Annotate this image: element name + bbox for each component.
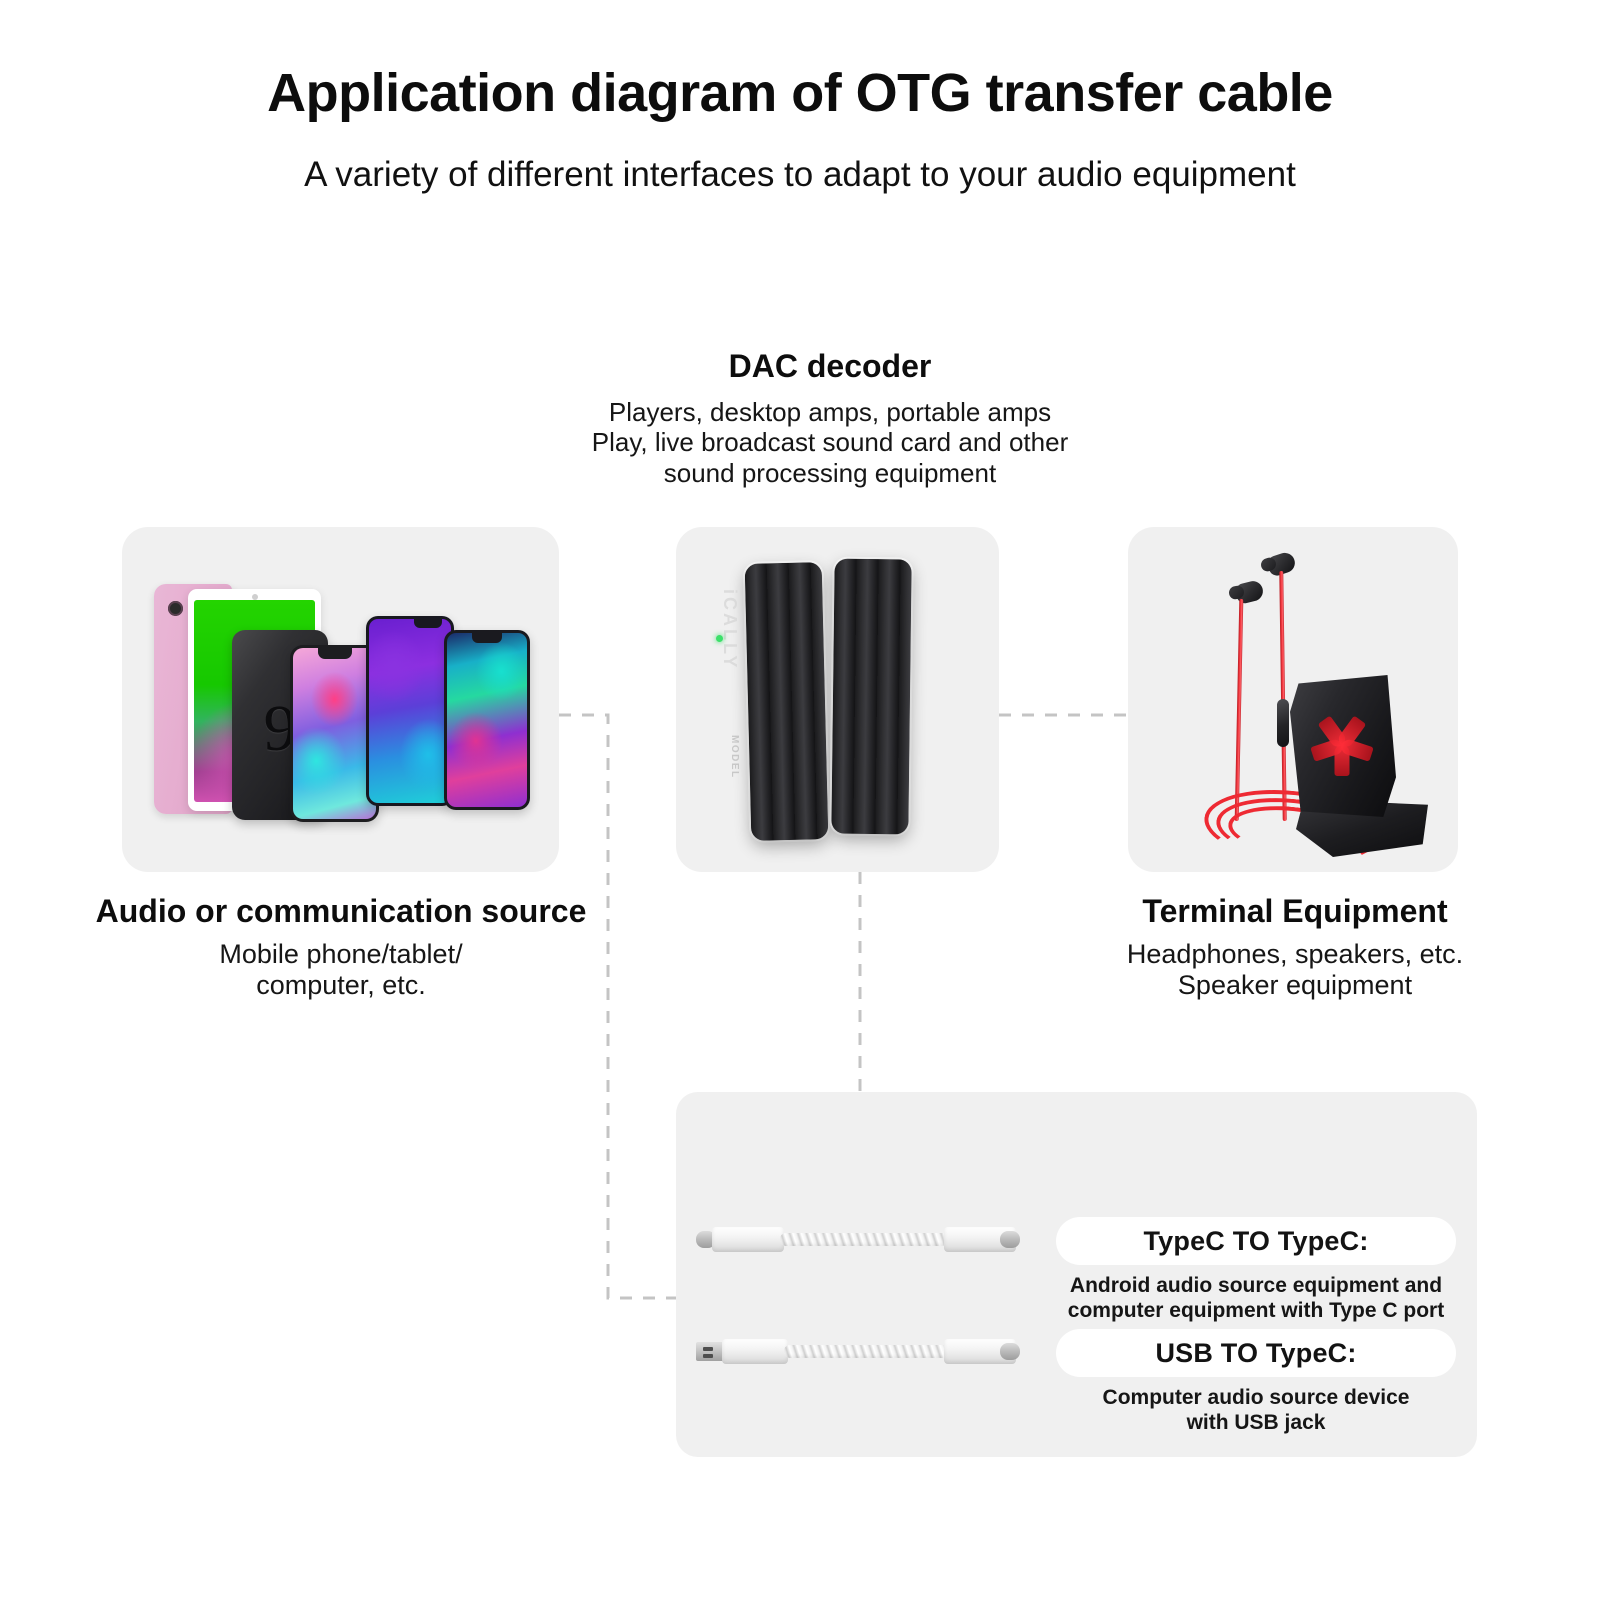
earphone-wire-right: [1279, 571, 1286, 821]
device-illustration-group: 9: [122, 527, 559, 872]
cable-description: Android audio source equipment and compu…: [1056, 1274, 1456, 1324]
status-led-icon: [716, 635, 723, 642]
connector-tip-typec-right: [1000, 1231, 1020, 1248]
cable-type-badge: USB TO TypeC:: [1056, 1329, 1456, 1377]
cable-type-badge: TypeC TO TypeC:: [1056, 1217, 1456, 1265]
audio-source-description: Mobile phone/tablet/ computer, etc.: [95, 939, 587, 1002]
notch-cutout: [472, 633, 502, 643]
cable-illustration-typec: [696, 1222, 1036, 1258]
dac-brand-label: iCALLY: [719, 589, 740, 670]
connector-body-left: [712, 1227, 784, 1252]
audio-source-heading: Audio or communication source: [95, 893, 587, 931]
phone-notch-screen: [293, 648, 376, 819]
panel-cable-options: TypeC TO TypeC: Android audio source equ…: [676, 1092, 1477, 1457]
inline-remote-control: [1277, 699, 1289, 747]
connector-body-left: [722, 1339, 788, 1364]
dac-model-label: MODEL: [729, 735, 740, 779]
front-camera-icon: [252, 594, 258, 600]
phone-teal-illustration: [444, 630, 530, 810]
panel-terminal-equipment: [1128, 527, 1458, 872]
notch-cutout: [318, 648, 352, 659]
terminal-heading: Terminal Equipment: [1037, 893, 1553, 931]
phone-teal-screen: [447, 633, 527, 807]
connector-tip-typec-right: [1000, 1343, 1020, 1360]
dac-description: Players, desktop amps, portable amps Pla…: [470, 397, 1190, 488]
camera-icon: [168, 601, 183, 616]
cable-braid: [780, 1233, 948, 1246]
cable-label-block: TypeC TO TypeC: Android audio source equ…: [1056, 1217, 1456, 1324]
terminal-illustration-group: [1128, 527, 1458, 872]
cable-illustration-usb: [696, 1334, 1036, 1370]
earphone-wire-left: [1235, 599, 1244, 821]
cable-braid: [784, 1345, 948, 1358]
speaker-fan-icon: [1310, 713, 1374, 777]
audio-source-caption: Audio or communication source Mobile pho…: [95, 893, 587, 1002]
terminal-description: Headphones, speakers, etc. Speaker equip…: [1037, 939, 1553, 1002]
dac-device-left: [745, 562, 829, 841]
dac-illustration-group: iCALLY MODEL: [676, 527, 999, 872]
dac-caption: DAC decoder Players, desktop amps, porta…: [470, 348, 1190, 488]
phone-purple-illustration: [366, 616, 454, 806]
cable-description: Computer audio source device with USB ja…: [1056, 1386, 1456, 1436]
connector-devices-to-cables: [559, 715, 676, 1298]
terminal-caption: Terminal Equipment Headphones, speakers,…: [1037, 893, 1553, 1002]
dac-heading: DAC decoder: [470, 348, 1190, 386]
phone-purple-screen: [369, 619, 451, 803]
panel-audio-sources: 9: [122, 527, 559, 872]
dac-device-right: [831, 559, 911, 835]
notch-cutout: [414, 619, 442, 628]
panel-dac-decoder: iCALLY MODEL: [676, 527, 999, 872]
cable-label-block: USB TO TypeC: Computer audio source devi…: [1056, 1329, 1456, 1436]
